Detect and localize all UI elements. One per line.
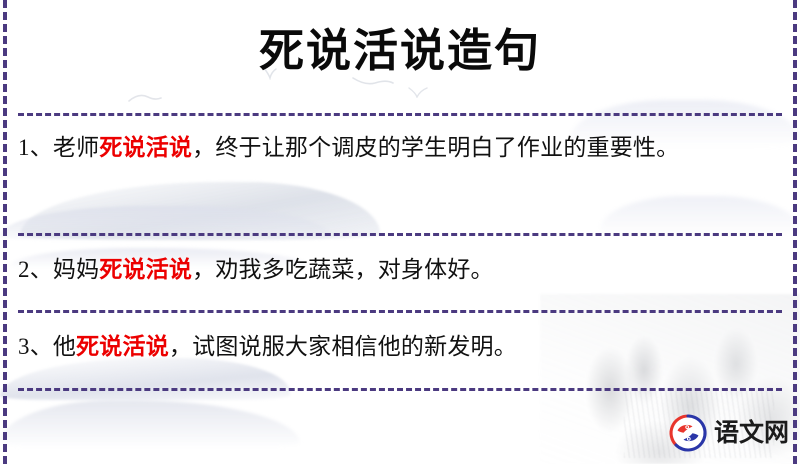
divider-3 [18,310,782,313]
sentence-row-2: 2、妈妈死说活说，劝我多吃蔬菜，对身体好。 [18,250,780,290]
bird-silhouette-icon [128,92,162,104]
sentence-3-number: 3、 [18,334,53,359]
sentence-2-idiom: 死说活说 [99,257,192,282]
divider-1 [18,113,782,116]
watermark-mountain-ridge-1 [20,182,380,240]
page-title: 死说活说造句 [0,22,800,80]
sentence-3-before: 他 [53,334,76,359]
page-border-left [3,0,7,464]
sentence-2-after: ，劝我多吃蔬菜，对身体好。 [192,257,494,282]
site-logo-text: 语文网 [714,413,789,453]
page-border-right [793,0,797,464]
sentence-1-number: 1、 [18,135,53,160]
sentence-3-after: ，试图说服大家相信他的新发明。 [169,334,517,359]
sentence-2-number: 2、 [18,257,53,282]
divider-4 [18,388,782,391]
sentence-1-idiom: 死说活说 [99,135,192,160]
sentence-2-before: 妈妈 [53,257,99,282]
sentence-row-1: 1、老师死说活说，终于让那个调皮的学生明白了作业的重要性。 [18,128,780,168]
sentence-row-3: 3、他死说活说，试图说服大家相信他的新发明。 [18,327,780,367]
watermark-haze-mid-right [600,196,800,236]
divider-2 [18,233,782,236]
sentence-1-after: ，终于让那个调皮的学生明白了作业的重要性。 [192,135,679,160]
watermark-water-band [0,400,300,446]
yuwen-circle-logo-icon [668,413,708,453]
bird-silhouette-icon [408,86,428,98]
site-logo[interactable]: 语文网 [668,411,786,455]
sentence-1-before: 老师 [53,135,99,160]
sentence-3-idiom: 死说活说 [76,334,169,359]
worksheet-page: 死说活说造句 1、老师死说活说，终于让那个调皮的学生明白了作业的重要性。 2、妈… [0,0,800,464]
